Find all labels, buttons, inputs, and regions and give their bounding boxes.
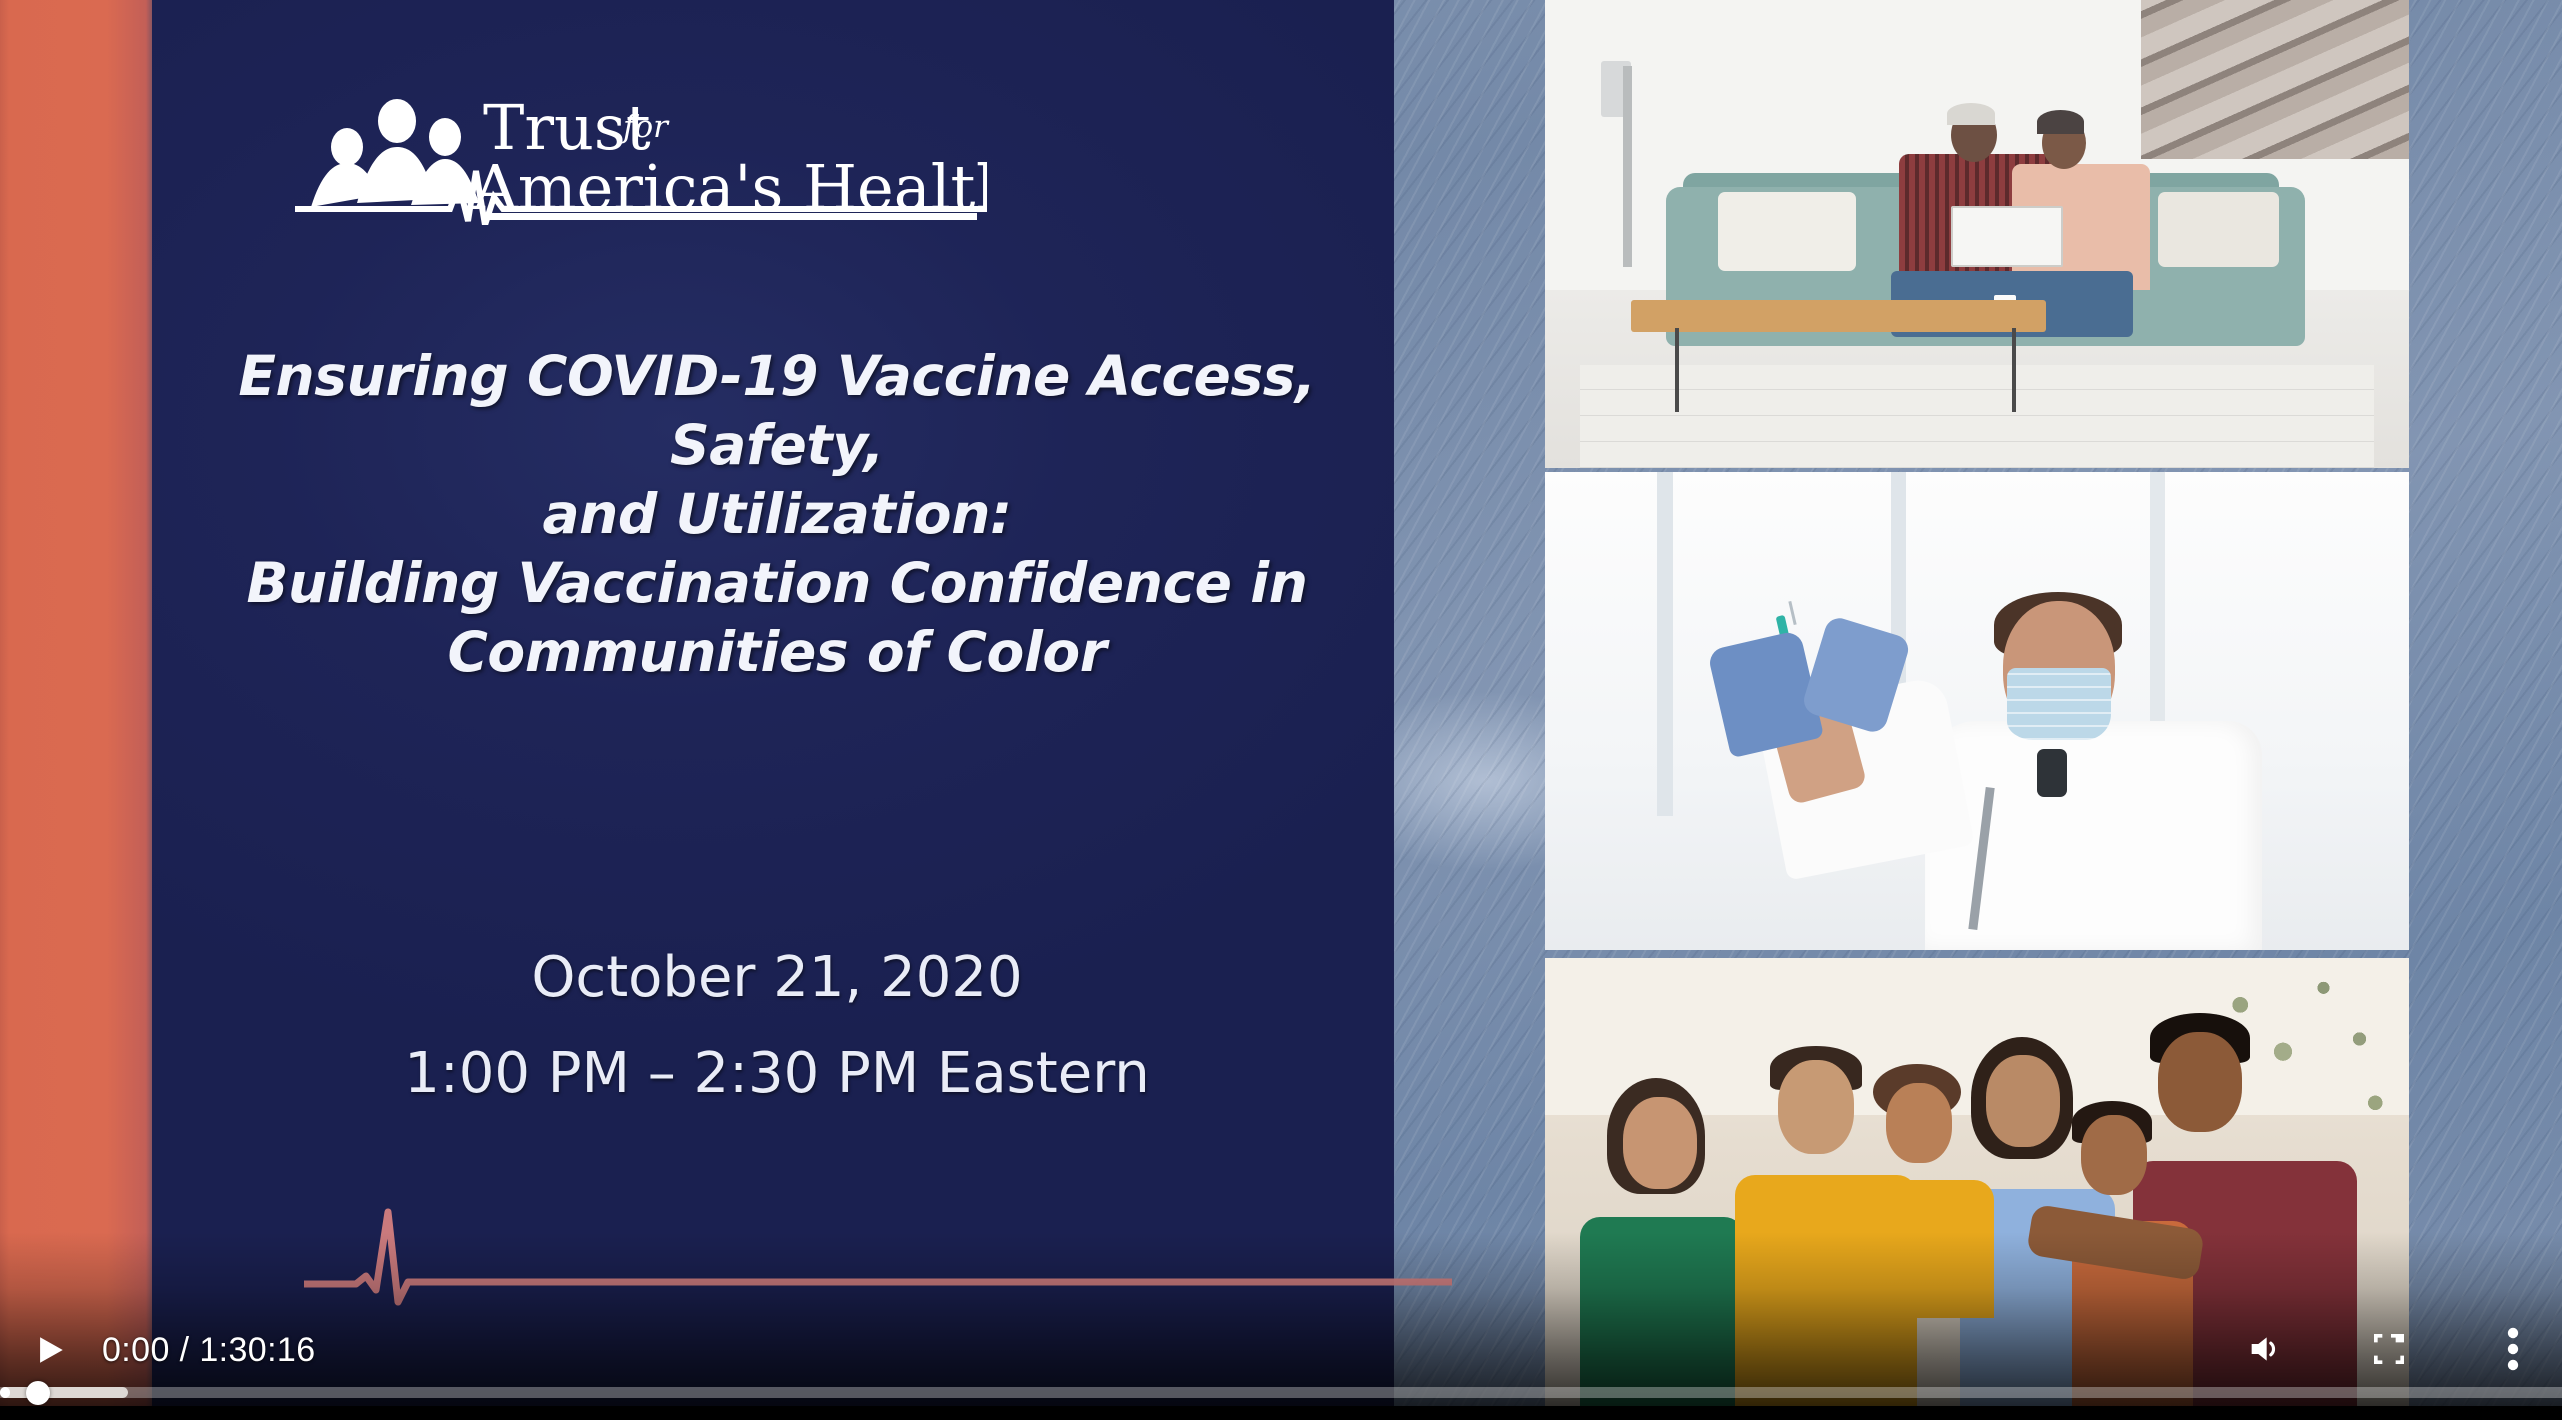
trust-for-americas-health-logo: Trust for America's Health <box>287 85 987 225</box>
slide-title-line-4: Communities of Color <box>212 618 1342 687</box>
slide-title-line-1: Ensuring COVID-19 Vaccine Access, Safety… <box>212 342 1342 480</box>
time-display: 0:00 / 1:30:16 <box>102 1331 316 1370</box>
kebab-menu-icon <box>2507 1327 2519 1371</box>
photo-collage-column <box>1545 0 2409 1420</box>
progress-bar[interactable] <box>0 1387 2562 1398</box>
photo-clinician-syringe <box>1545 472 2409 950</box>
bottom-letterbox-strip <box>0 1406 2562 1420</box>
presentation-slide: Trust for America's Health Ensuring COVI… <box>152 0 1394 1420</box>
progress-scrubber-handle[interactable] <box>26 1381 50 1405</box>
volume-icon <box>2245 1329 2285 1369</box>
fullscreen-button[interactable] <box>2364 1324 2414 1374</box>
more-options-button[interactable] <box>2488 1324 2538 1374</box>
volume-button[interactable] <box>2240 1324 2290 1374</box>
slide-date-block: October 21, 2020 1:00 PM – 2:30 PM Easte… <box>212 930 1342 1122</box>
progress-buffered <box>0 1387 128 1398</box>
video-controls-bar[interactable]: 0:00 / 1:30:16 <box>0 1302 2562 1420</box>
svg-text:America's Health: America's Health <box>472 151 987 224</box>
svg-text:for: for <box>621 109 670 145</box>
play-button[interactable] <box>26 1326 74 1374</box>
slide-title-line-2: and Utilization: <box>212 480 1342 549</box>
slide-time-range: 1:00 PM – 2:30 PM Eastern <box>212 1026 1342 1122</box>
play-icon <box>33 1333 67 1367</box>
slide-title: Ensuring COVID-19 Vaccine Access, Safety… <box>212 342 1342 687</box>
slide-date: October 21, 2020 <box>212 930 1342 1026</box>
video-player[interactable]: Trust for America's Health Ensuring COVI… <box>0 0 2562 1420</box>
progress-played <box>0 1387 10 1398</box>
slide-title-line-3: Building Vaccination Confidence in <box>212 549 1342 618</box>
controls-left-group: 0:00 / 1:30:16 <box>26 1326 316 1374</box>
photo-older-couple-laptop <box>1545 0 2409 468</box>
salmon-accent-bar <box>0 0 152 1420</box>
ekg-pulse-line <box>304 1198 1454 1308</box>
fullscreen-icon <box>2369 1329 2409 1369</box>
controls-right-group <box>2240 1324 2538 1374</box>
